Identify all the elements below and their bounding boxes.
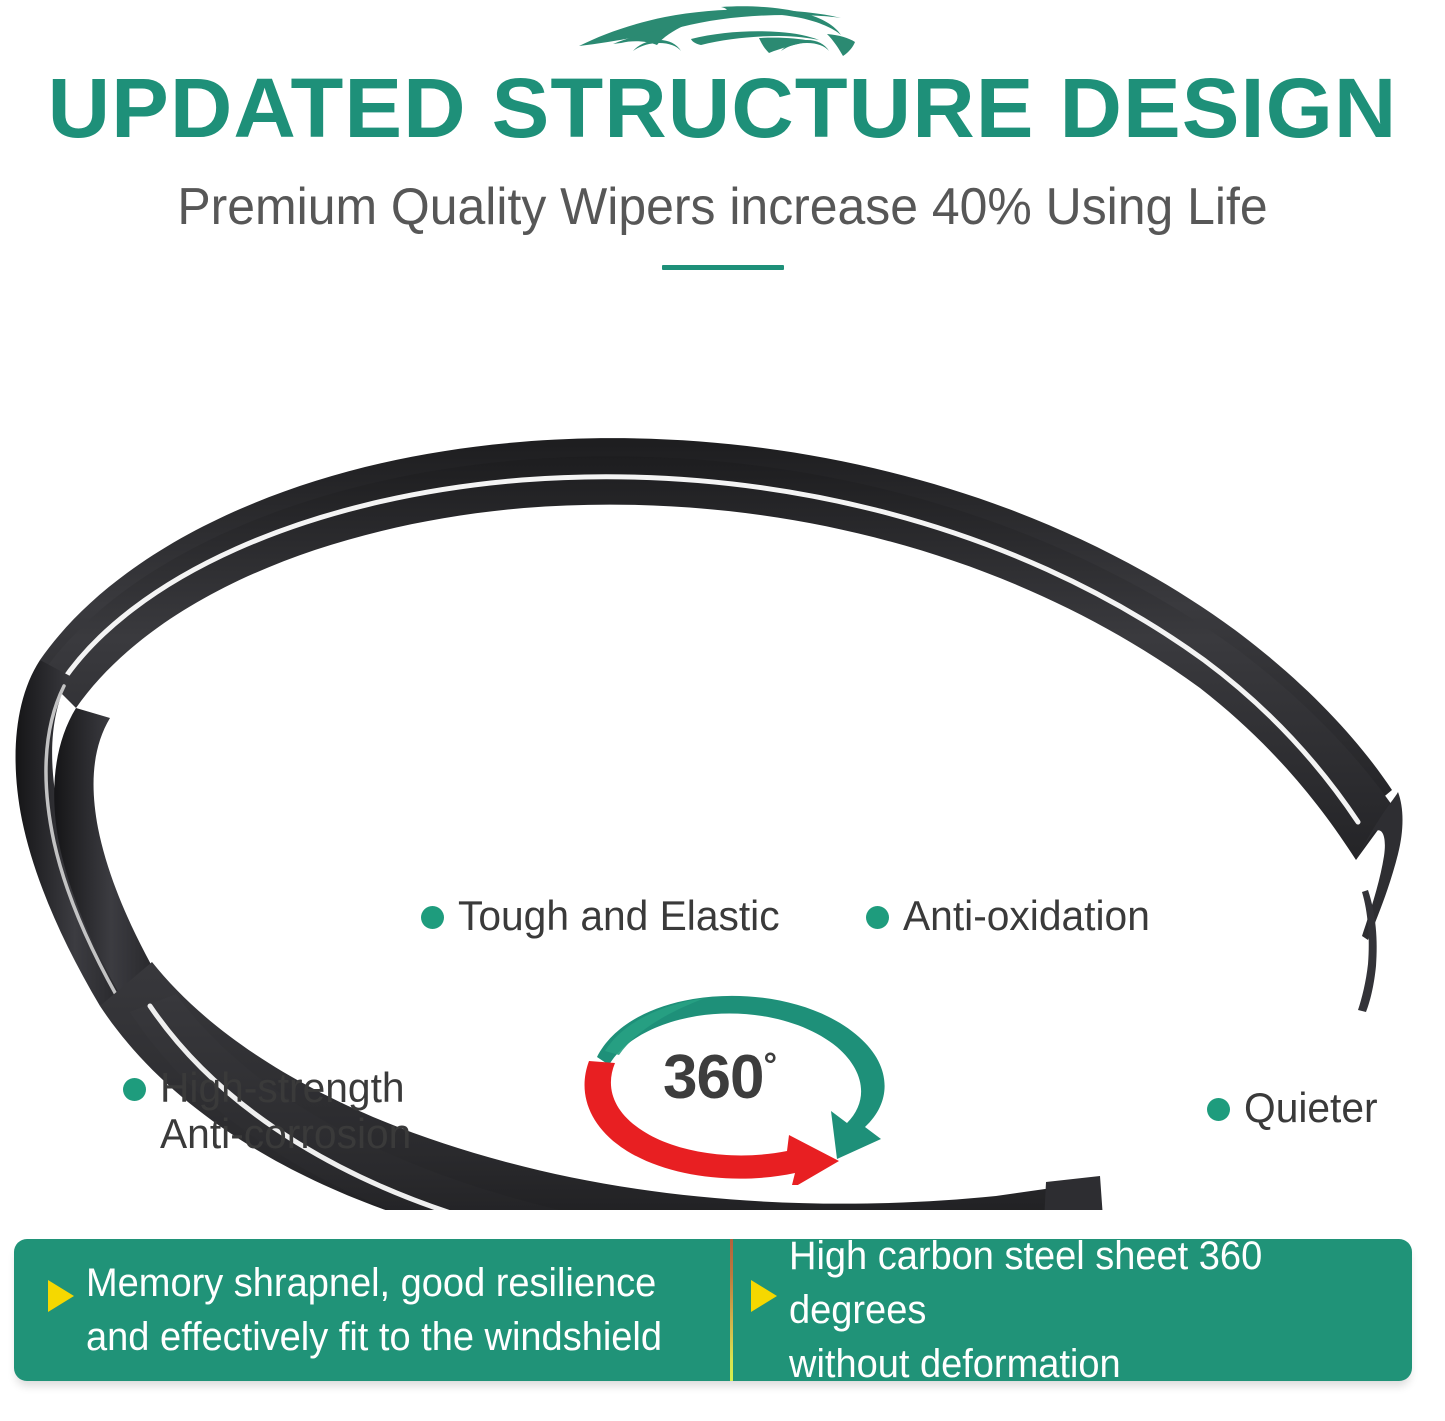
- bullet-dot-icon: [421, 906, 444, 929]
- bullet-dot-icon: [866, 906, 889, 929]
- banner-item-text: Memory shrapnel, good resilience and eff…: [86, 1256, 662, 1364]
- triangle-right-icon: [48, 1280, 74, 1312]
- badge-number: 360: [663, 1043, 763, 1112]
- feature-label: Anti-oxidation: [903, 893, 1150, 939]
- triangle-right-icon: [751, 1280, 777, 1312]
- feature-tough-and-elastic: Tough and Elastic: [421, 893, 790, 939]
- bullet-dot-icon: [1207, 1098, 1230, 1121]
- feature-high-strength-anti-corrosion: High-strength Anti-corrosion: [123, 1065, 419, 1157]
- page-title: UPDATED STRUCTURE DESIGN: [0, 62, 1445, 154]
- 360-rotation-badge: 360°: [575, 985, 920, 1185]
- feature-label: Quieter: [1244, 1085, 1378, 1131]
- feature-label: Tough and Elastic: [458, 893, 780, 939]
- product-image-area: Tough and Elastic Anti-oxidation High-st…: [0, 330, 1445, 1210]
- badge-value: 360°: [663, 1047, 776, 1109]
- benefits-banner: Memory shrapnel, good resilience and eff…: [14, 1239, 1412, 1381]
- header-divider-rule: [662, 265, 784, 270]
- header-section: UPDATED STRUCTURE DESIGN Premium Quality…: [0, 0, 1445, 290]
- bullet-dot-icon: [123, 1078, 146, 1101]
- feature-anti-oxidation: Anti-oxidation: [866, 893, 1157, 939]
- banner-item-text: High carbon steel sheet 360 degrees with…: [789, 1229, 1381, 1391]
- feature-label: High-strength Anti-corrosion: [160, 1065, 411, 1157]
- banner-item-high-carbon-steel: High carbon steel sheet 360 degrees with…: [709, 1239, 1412, 1381]
- page-subtitle: Premium Quality Wipers increase 40% Usin…: [29, 176, 1416, 238]
- car-silhouette-icon: [573, 4, 873, 66]
- banner-item-memory-shrapnel: Memory shrapnel, good resilience and eff…: [14, 1239, 709, 1381]
- degree-symbol-icon: °: [763, 1046, 776, 1084]
- feature-quieter: Quieter: [1207, 1085, 1382, 1131]
